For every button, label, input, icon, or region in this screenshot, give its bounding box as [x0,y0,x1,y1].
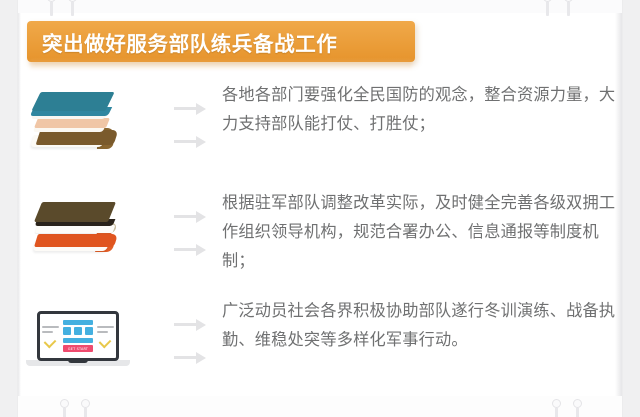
screen-center-column: GET START [63,320,93,353]
row-arrows-cell [160,288,222,388]
book-stack-brown-icon [24,196,136,268]
row-text-cell: 各地各部门要强化全民国防的观念，整合资源力量，大力支持部队能打仗、打胜仗； [222,72,640,138]
arrow-right-icon [174,211,208,223]
check-icon [44,336,57,349]
arrow-right-icon [174,103,208,115]
section-title-text: 突出做好服务部队练兵备战工作 [42,27,337,57]
row-paragraph: 广泛动员社会各界积极协助部队遂行冬训演练、战备执勤、维稳处突等多样化军事行动。 [222,296,618,354]
spiral-pin-icon [47,0,56,16]
spiral-pin-icon [68,0,77,16]
content-row: 根据驻军部队调整改革实际，及时健全完善各级双拥工作组织领导机构，规范合署办公、信… [0,180,640,288]
content-row: 各地各部门要强化全民国防的观念，整合资源力量，大力支持部队能打仗、打胜仗； [0,72,640,180]
screen-cta-label: GET START [68,347,88,351]
spiral-pin-icon [543,0,552,16]
book-stack-teal-icon [24,88,136,160]
row-text-cell: 根据驻军部队调整改革实际，及时健全完善各级双拥工作组织领导机构，规范合署办公、信… [222,180,640,275]
row-icon-cell: GET START [0,288,160,388]
spiral-pin-icon [81,399,90,417]
row-arrows-cell [160,72,222,172]
content-rows: 各地各部门要强化全民国防的观念，整合资源力量，大力支持部队能打仗、打胜仗； [0,72,640,396]
arrow-right-icon [174,136,208,148]
spiral-pin-icon [60,399,69,417]
check-icon [99,336,112,349]
page-root: 突出做好服务部队练兵备战工作 [0,0,640,417]
screen-left-column [42,326,59,347]
screen-cta-button[interactable]: GET START [63,345,93,352]
section-title-banner: 突出做好服务部队练兵备战工作 [27,21,415,62]
laptop-screen: GET START [41,315,115,357]
row-arrows-cell [160,180,222,280]
spiral-pin-icon [552,399,561,417]
laptop-icon: GET START [24,305,136,375]
row-icon-cell [0,180,160,280]
row-paragraph: 根据驻军部队调整改革实际，及时健全完善各级双拥工作组织领导机构，规范合署办公、信… [222,188,618,275]
spiral-pin-icon [573,399,582,417]
paper-top-strip [18,0,622,13]
row-paragraph: 各地各部门要强化全民国防的观念，整合资源力量，大力支持部队能打仗、打胜仗； [222,80,618,138]
row-text-cell: 广泛动员社会各界积极协助部队遂行冬训演练、战备执勤、维稳处突等多样化军事行动。 [222,288,640,354]
spiral-pin-icon [564,0,573,16]
arrow-right-icon [174,244,208,256]
arrow-right-icon [174,352,208,364]
screen-right-column [97,326,114,347]
banner-shadow [30,60,412,70]
arrow-right-icon [174,319,208,331]
paper-bottom-strip [18,396,622,417]
content-row: GET START 广泛动员社会各界积极协助部队遂行冬 [0,288,640,396]
row-icon-cell [0,72,160,172]
